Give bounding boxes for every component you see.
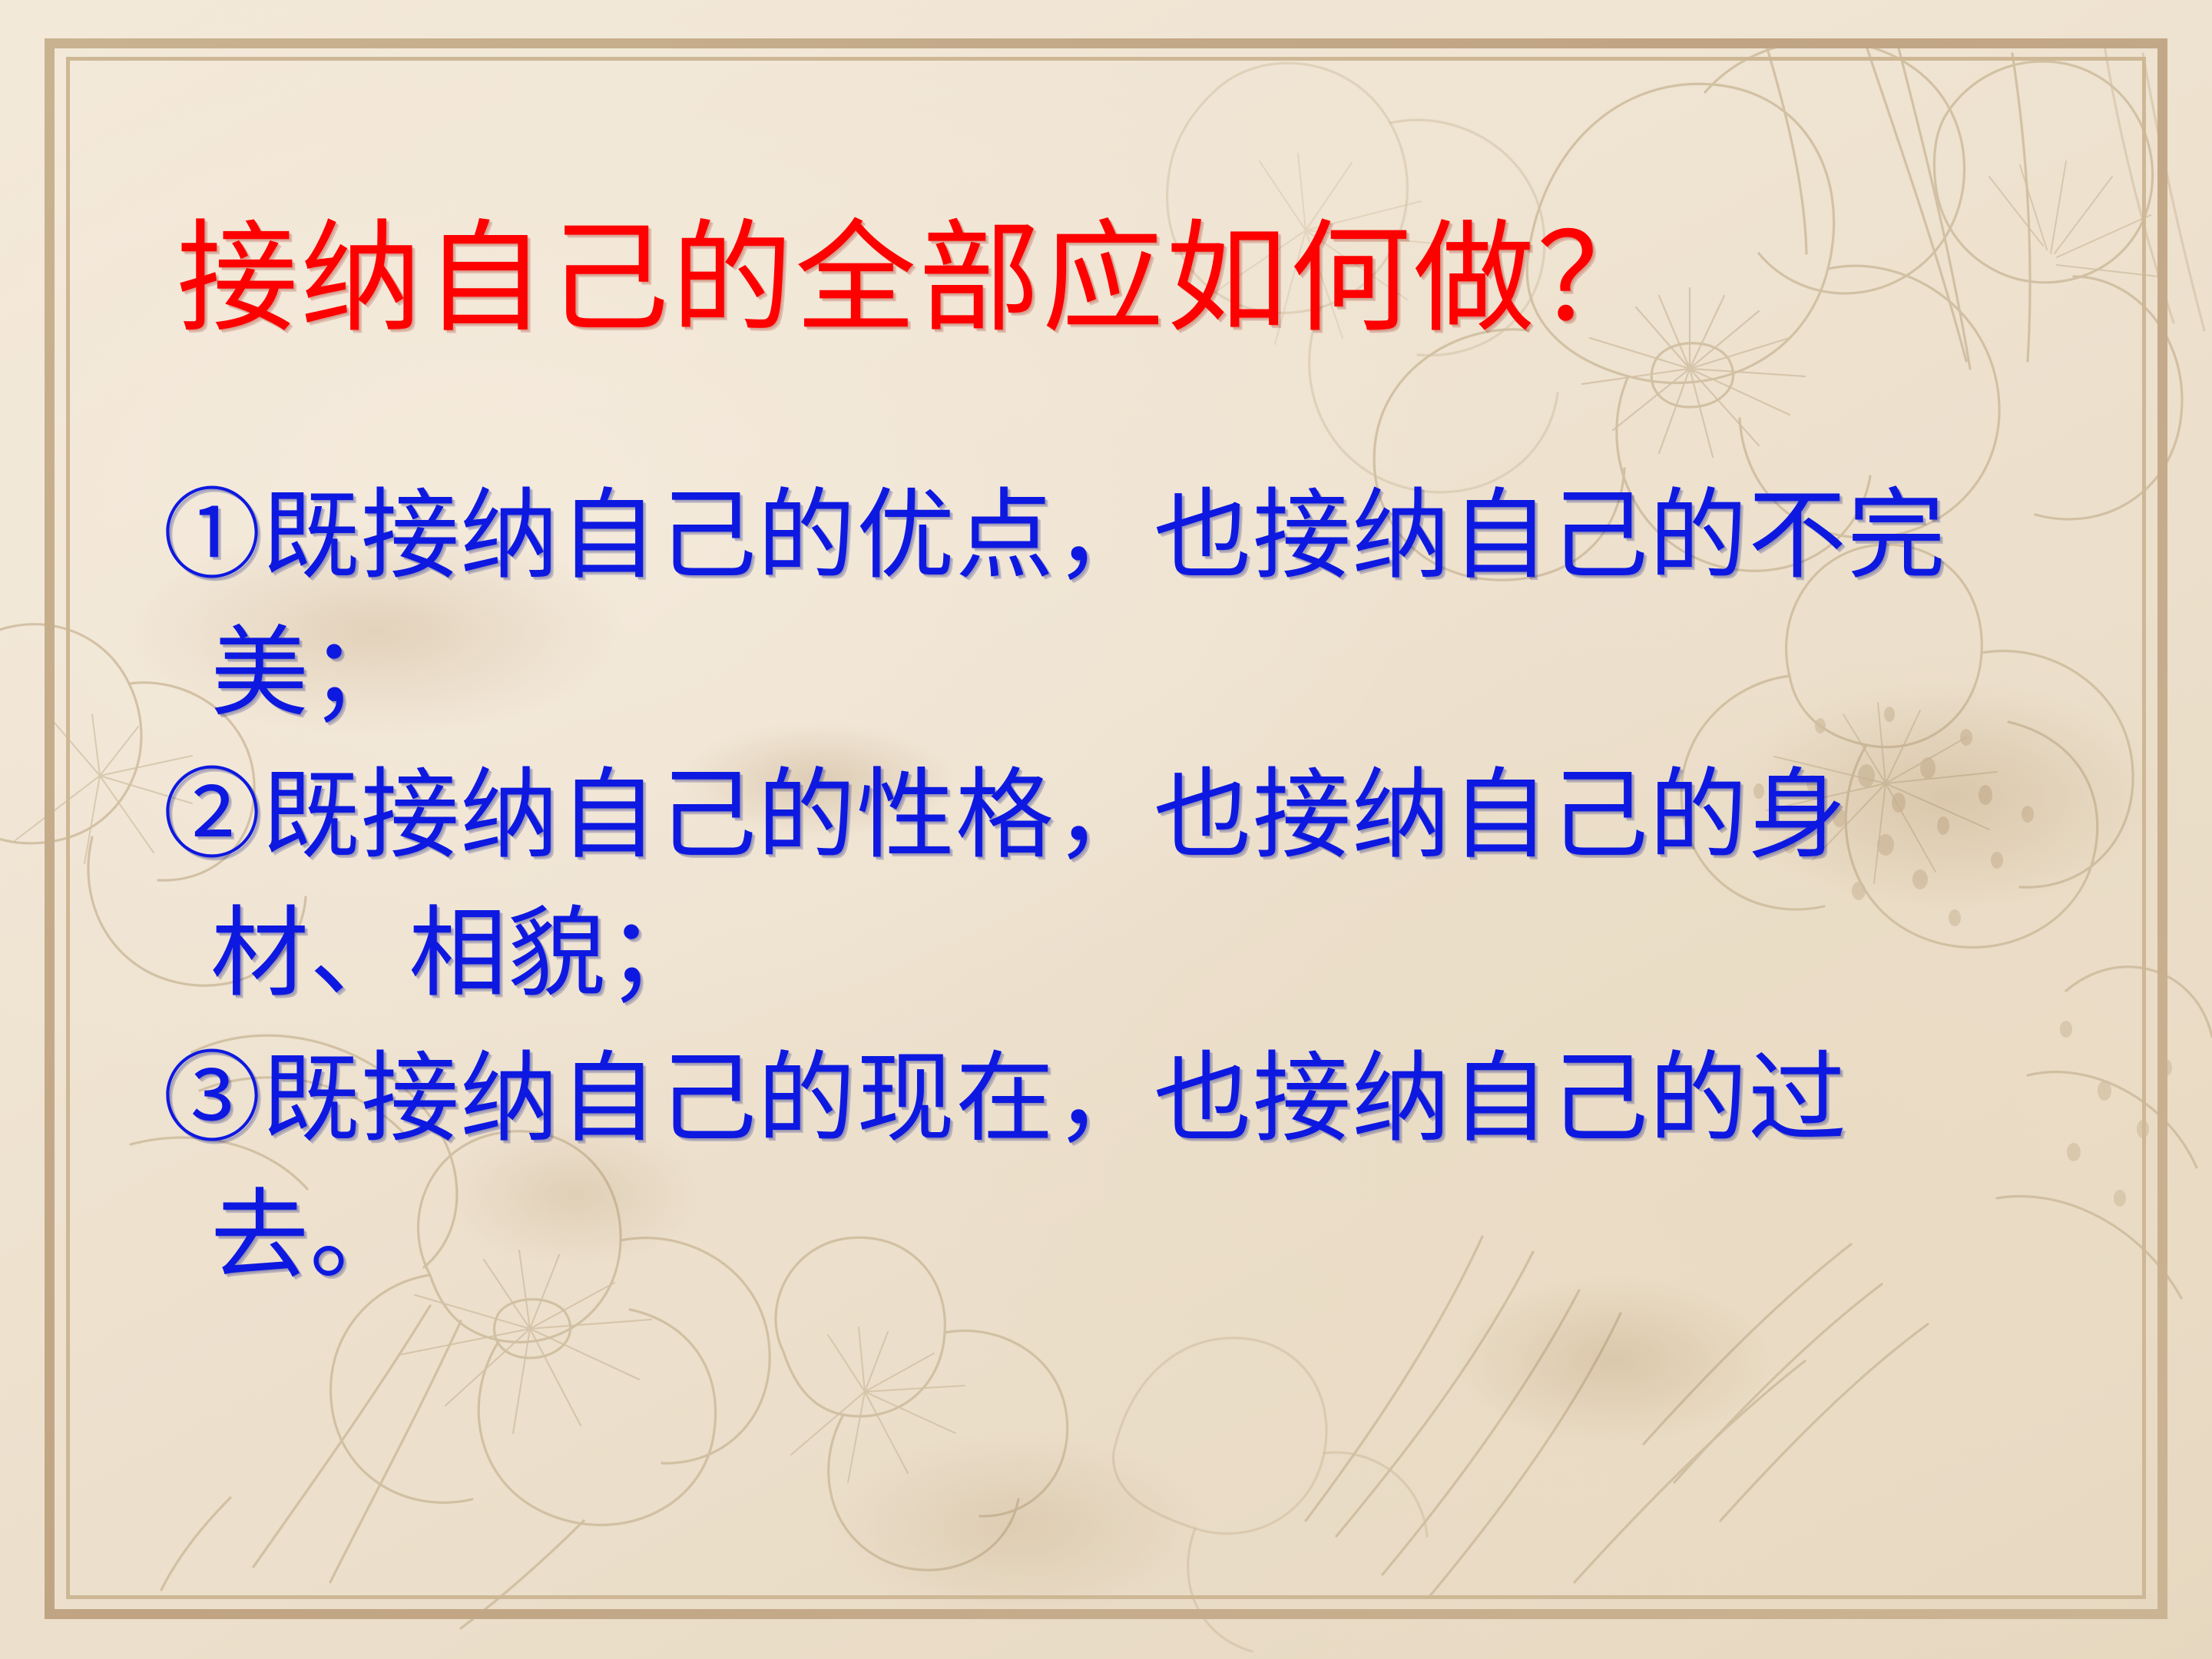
presentation-slide: 接纳自己的全部应如何做？ ①既接纳自己的优点，也接纳自己的不完美； ②既接纳自己… bbox=[0, 0, 2212, 1659]
slide-body-list: ①既接纳自己的优点，也接纳自己的不完美； ②既接纳自己的性格，也接纳自己的身材、… bbox=[163, 467, 1952, 1310]
list-item: ①既接纳自己的优点，也接纳自己的不完美； bbox=[163, 467, 1952, 742]
list-item: ③既接纳自己的现在，也接纳自己的过去。 bbox=[163, 1030, 1952, 1305]
list-item: ②既接纳自己的性格，也接纳自己的身材、相貌； bbox=[163, 747, 1952, 1022]
slide-content: 接纳自己的全部应如何做？ ①既接纳自己的优点，也接纳自己的不完美； ②既接纳自己… bbox=[0, 0, 2212, 1659]
slide-title: 接纳自己的全部应如何做？ bbox=[177, 218, 1661, 339]
